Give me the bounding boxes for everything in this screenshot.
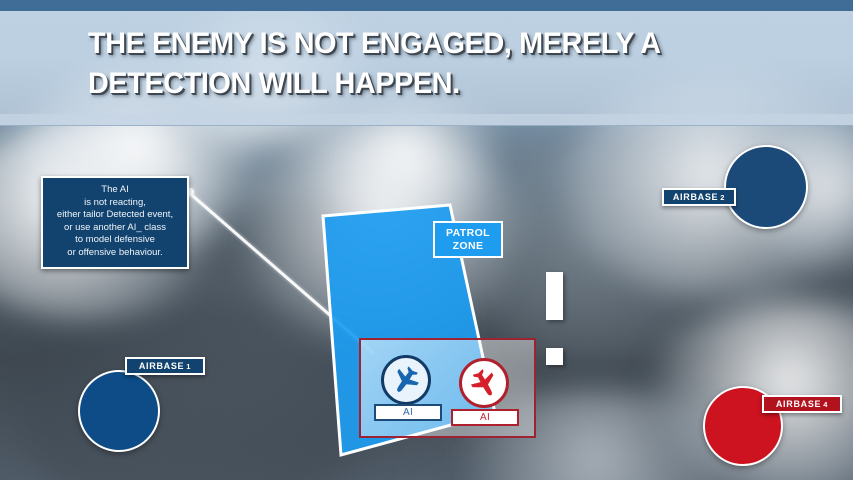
exclamation-dot-icon: [546, 348, 563, 365]
airbase-4-label-text: AIRBASE: [776, 399, 821, 409]
callout-line: either tailor Detected event,: [47, 209, 183, 222]
slide-title: THE ENEMY IS NOT ENGAGED, MERELY A DETEC…: [88, 24, 760, 104]
red-unit-ai-tag[interactable]: AI: [451, 409, 519, 426]
header-accent-strip: [0, 0, 853, 11]
callout-line: is not reacting,: [47, 197, 183, 210]
patrol-zone-label: PATROL ZONE: [433, 221, 503, 258]
airbase-4-label: AIRBASE 4: [762, 395, 842, 413]
airbase-1-number: 1: [186, 362, 191, 371]
slide-canvas: THE ENEMY IS NOT ENGAGED, MERELY A DETEC…: [0, 0, 853, 480]
airbase-2-label: AIRBASE 2: [662, 188, 736, 206]
patrol-zone-label-line1: PATROL: [446, 227, 490, 240]
blue-fighter-jet-icon[interactable]: [381, 355, 431, 405]
ai-behaviour-callout: The AI is not reacting, either tailor De…: [41, 176, 189, 269]
blue-unit-ai-tag[interactable]: AI: [374, 404, 442, 421]
header-bottom-strip: [0, 114, 853, 126]
airbase-1-marker[interactable]: [78, 370, 160, 452]
exclamation-mark-icon: [546, 272, 563, 320]
airbase-2-number: 2: [720, 193, 725, 202]
red-fighter-jet-icon[interactable]: [459, 358, 509, 408]
callout-line: to model defensive: [47, 234, 183, 247]
callout-line: or offensive behaviour.: [47, 247, 183, 260]
airbase-2-marker[interactable]: [724, 145, 808, 229]
airbase-2-label-text: AIRBASE: [673, 192, 718, 202]
patrol-zone-label-line2: ZONE: [453, 240, 484, 253]
callout-line: The AI: [47, 184, 183, 197]
airbase-1-label-text: AIRBASE: [139, 361, 184, 371]
airbase-4-number: 4: [823, 400, 828, 409]
callout-line: or use another AI_ class: [47, 222, 183, 235]
airbase-1-label: AIRBASE 1: [125, 357, 205, 375]
